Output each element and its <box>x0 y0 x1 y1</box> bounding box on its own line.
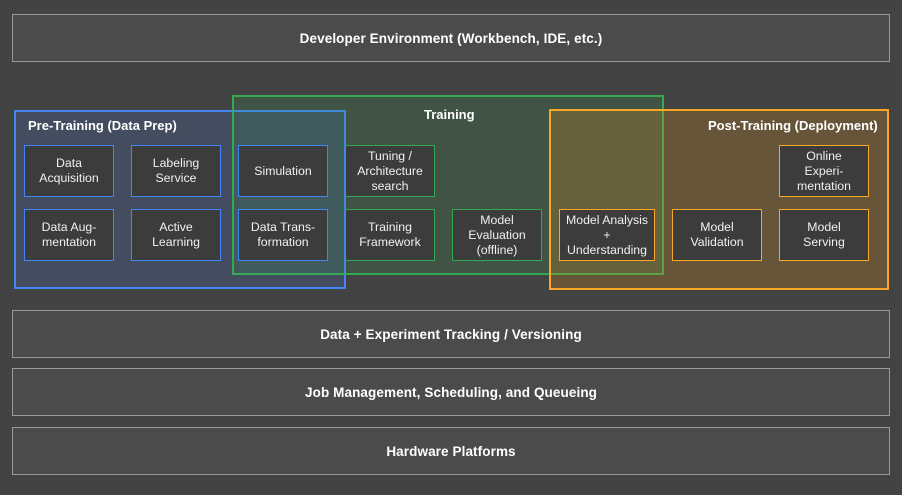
data-experiment-tracking-label: Data + Experiment Tracking / Versioning <box>320 327 582 342</box>
job-management-bar: Job Management, Scheduling, and Queueing <box>12 368 890 416</box>
item-data-transformation[interactable]: Data Trans- formation <box>238 209 328 261</box>
hardware-platforms-label: Hardware Platforms <box>386 444 515 459</box>
data-experiment-tracking-bar: Data + Experiment Tracking / Versioning <box>12 310 890 358</box>
item-model-analysis-understanding[interactable]: Model Analysis + Understanding <box>559 209 655 261</box>
item-tuning-architecture-search[interactable]: Tuning / Architecture search <box>345 145 435 197</box>
item-online-experimentation[interactable]: Online Experi- mentation <box>779 145 869 197</box>
panel-post-training <box>549 109 889 290</box>
item-simulation[interactable]: Simulation <box>238 145 328 197</box>
item-data-acquisition[interactable]: Data Acquisition <box>24 145 114 197</box>
item-labeling-service[interactable]: Labeling Service <box>131 145 221 197</box>
developer-environment-label: Developer Environment (Workbench, IDE, e… <box>300 31 603 46</box>
panel-pre-training-title: Pre-Training (Data Prep) <box>28 118 177 133</box>
item-active-learning[interactable]: Active Learning <box>131 209 221 261</box>
lifecycle-stage-area: Pre-Training (Data Prep) Training Post-T… <box>0 0 902 495</box>
panel-post-training-title: Post-Training (Deployment) <box>708 118 878 133</box>
item-data-augmentation[interactable]: Data Aug- mentation <box>24 209 114 261</box>
item-model-validation[interactable]: Model Validation <box>672 209 762 261</box>
item-model-evaluation-offline[interactable]: Model Evaluation (offline) <box>452 209 542 261</box>
panel-training-title: Training <box>424 107 475 122</box>
hardware-platforms-bar: Hardware Platforms <box>12 427 890 475</box>
job-management-label: Job Management, Scheduling, and Queueing <box>305 385 597 400</box>
developer-environment-bar: Developer Environment (Workbench, IDE, e… <box>12 14 890 62</box>
item-training-framework[interactable]: Training Framework <box>345 209 435 261</box>
item-model-serving[interactable]: Model Serving <box>779 209 869 261</box>
